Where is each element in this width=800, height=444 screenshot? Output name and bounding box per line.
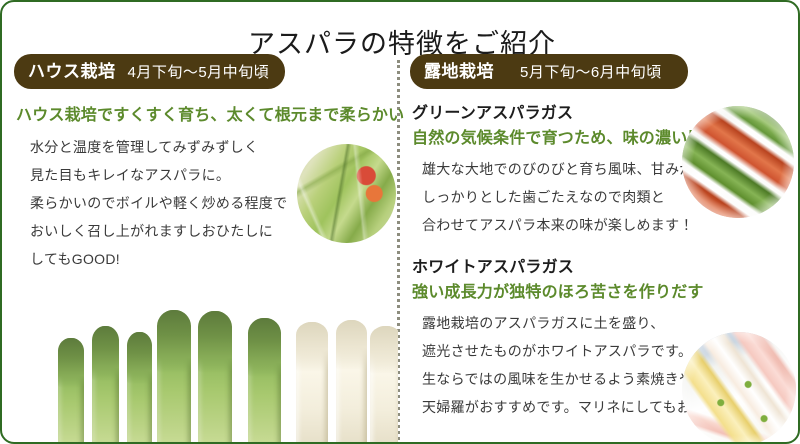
white-asparagus-spear bbox=[370, 326, 398, 444]
asparagus-feature-panel: アスパラの特徴をご紹介 ハウス栽培4月下旬〜5月中旬頃 ハウス栽培ですくすく育ち… bbox=[0, 0, 800, 444]
green-asparagus-spear bbox=[58, 338, 84, 444]
white-asparagus-heading: ホワイトアスパラガス bbox=[412, 257, 794, 279]
green-asparagus-spear bbox=[157, 310, 191, 444]
house-lead-text: ハウス栽培ですくすく育ち、太くて根元まで柔らかい bbox=[16, 105, 390, 127]
green-asparagus-spear bbox=[248, 318, 281, 444]
badge-field-label: 露地栽培 bbox=[424, 62, 494, 81]
column-house-cultivation: ハウス栽培4月下旬〜5月中旬頃 ハウス栽培ですくすく育ち、太くて根元まで柔らかい… bbox=[10, 54, 390, 273]
house-body-line: してもGOOD! bbox=[30, 245, 390, 273]
white-asparagus-spear bbox=[296, 322, 328, 444]
white-asparagus-spear bbox=[336, 320, 367, 444]
badge-field-season: 5月下旬〜6月中旬頃 bbox=[520, 64, 662, 81]
white-asparagus-ham-dish-photo bbox=[682, 332, 796, 444]
asparagus-spear-row-photo bbox=[2, 302, 398, 444]
green-asparagus-spear bbox=[127, 332, 152, 444]
white-asparagus-lead: 強い成長力が独特のほろ苦さを作りだす bbox=[412, 282, 794, 304]
badge-house-season: 4月下旬〜5月中旬頃 bbox=[128, 64, 270, 81]
house-grown-asparagus-dish-photo bbox=[297, 144, 396, 243]
badge-field-cultivation: 露地栽培5月下旬〜6月中旬頃 bbox=[410, 54, 688, 89]
green-asparagus-spear bbox=[92, 326, 119, 444]
badge-house-label: ハウス栽培 bbox=[28, 62, 116, 81]
badge-house-cultivation: ハウス栽培4月下旬〜5月中旬頃 bbox=[14, 54, 285, 89]
green-asparagus-bacon-roll-photo bbox=[682, 106, 794, 218]
green-asparagus-spear bbox=[198, 311, 232, 444]
